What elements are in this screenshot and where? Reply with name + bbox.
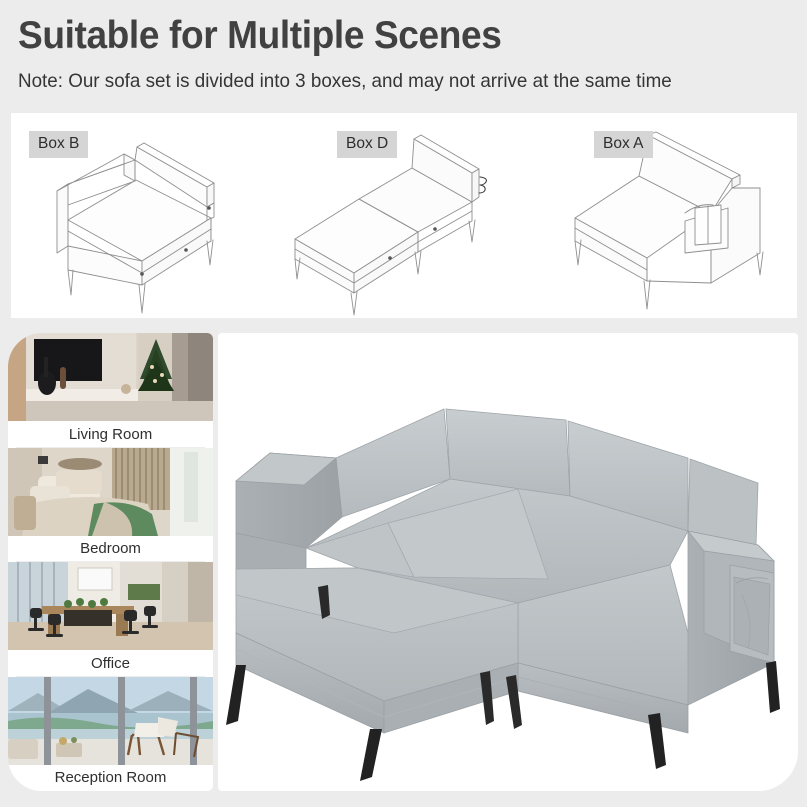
scene-label-bedroom: Bedroom [8,536,213,563]
scene-label-reception-room: Reception Room [8,765,213,792]
box-item-b: Box B [11,113,273,318]
box-label-b: Box B [29,131,88,158]
infographic-page: Suitable for Multiple Scenes Note: Our s… [0,0,807,807]
scene-label-office: Office [8,650,213,677]
sectional-sofa-image [218,333,798,791]
scene-thumbnail-living-room[interactable]: Living Room [8,333,213,448]
header: Suitable for Multiple Scenes Note: Our s… [0,0,807,112]
page-title: Suitable for Multiple Scenes [18,14,501,58]
scene-thumbnail-list: Living Room [8,333,213,791]
bedroom-image [8,448,213,536]
reception-room-image [8,677,213,765]
shipping-note: Note: Our sofa set is divided into 3 box… [18,70,672,93]
chaise-ottoman-module-icon [273,113,535,318]
scene-label-living-room: Living Room [8,421,213,448]
product-image-card [218,333,798,791]
office-image [8,562,213,650]
armchair-with-side-pocket-module-icon [535,113,797,318]
box-label-a: Box A [594,131,653,158]
scene-thumbnail-reception-room[interactable]: Reception Room [8,677,213,792]
box-item-d: Box D [273,113,535,318]
box-diagrams-card: Box B [11,113,797,318]
living-room-image [8,333,213,421]
box-item-a: Box A [535,113,797,318]
scene-thumbnail-bedroom[interactable]: Bedroom [8,448,213,563]
scene-thumbnail-office[interactable]: Office [8,562,213,677]
box-label-d: Box D [337,131,397,158]
